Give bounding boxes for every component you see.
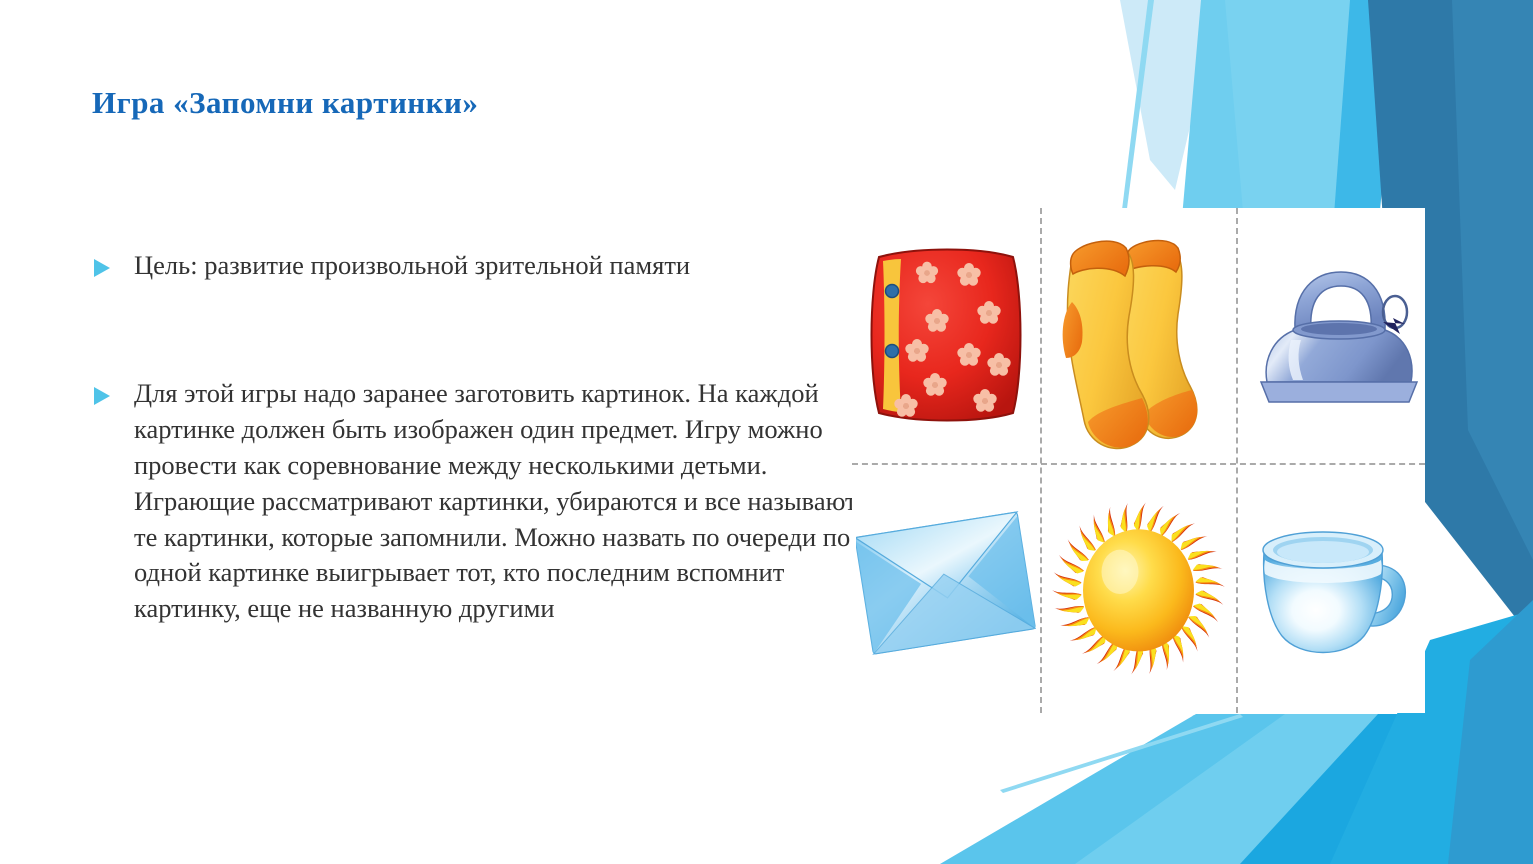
content-body: Цель: развитие произвольной зрительной п… (92, 248, 862, 627)
deco-bottom-cyan (1240, 714, 1450, 864)
picture-cell-sun[interactable] (1040, 463, 1236, 713)
bullet-item-instructions: Для этой игры надо заранее заготовить ка… (92, 376, 862, 627)
picture-cell-cup[interactable] (1236, 463, 1425, 713)
triangle-right-icon (92, 257, 112, 279)
deco-top-sky-light (1120, 0, 1220, 190)
bullet-text-goal: Цель: развитие произвольной зрительной п… (134, 248, 862, 284)
picture-cell-envelope[interactable] (852, 463, 1040, 713)
deco-bottom-teal (1448, 600, 1533, 864)
slide-canvas: Игра «Запомни картинки» Цель: развитие п… (0, 0, 1533, 864)
bullet-item-goal: Цель: развитие произвольной зрительной п… (92, 248, 862, 284)
deco-top-teal-light (1452, 0, 1533, 560)
picture-cell-socks[interactable] (1040, 208, 1236, 463)
deco-bottom-hairline (1000, 714, 1243, 793)
bullet-text-instructions: Для этой игры надо заранее заготовить ка… (134, 376, 862, 627)
deco-bottom-sky (940, 714, 1310, 864)
deco-bottom-sky-light (1140, 715, 1280, 800)
picture-cell-pillow[interactable] (852, 208, 1040, 463)
deco-bottom-sky2 (1075, 714, 1390, 864)
page-title: Игра «Запомни картинки» (92, 84, 852, 121)
picture-cell-kettle[interactable] (1236, 208, 1425, 463)
picture-card (852, 208, 1425, 713)
triangle-right-icon (92, 385, 112, 407)
